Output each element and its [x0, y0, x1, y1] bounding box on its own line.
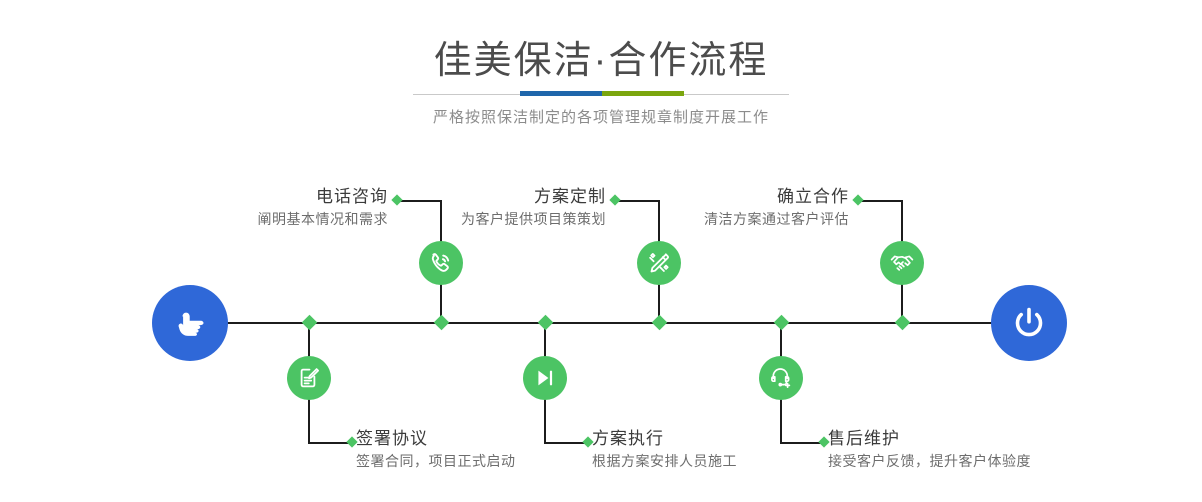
- page-subtitle: 严格按照保洁制定的各项管理规章制度开展工作: [0, 106, 1202, 130]
- timeline-axis: [160, 322, 1045, 324]
- axis-diamond-step-1: [434, 315, 450, 331]
- connector-elbow-step-5: [858, 200, 902, 202]
- step-title-1: 电话咨询: [160, 186, 388, 208]
- connector-elbow-step-6: [780, 442, 824, 444]
- step-label-1: 电话咨询 阐明基本情况和需求: [160, 186, 388, 230]
- power-icon: [1007, 301, 1051, 345]
- axis-diamond-step-3: [652, 315, 668, 331]
- step-desc-2: 签署合同，项目正式启动: [356, 450, 596, 472]
- title-divider-blue-segment: [520, 91, 602, 96]
- step-title-5: 确立合作: [624, 186, 849, 208]
- document-pen-icon: [296, 365, 322, 391]
- axis-diamond-step-4: [538, 315, 554, 331]
- step-desc-1: 阐明基本情况和需求: [160, 208, 388, 230]
- connector-diamond-step-3: [609, 194, 620, 205]
- step-desc-6: 接受客户反馈，提升客户体验度: [828, 450, 1078, 472]
- step-label-4: 方案执行 根据方案安排人员施工: [592, 428, 832, 472]
- pointing-hand-icon: [169, 302, 211, 344]
- step-node-3[interactable]: [637, 241, 681, 285]
- step-desc-3: 为客户提供项目策策划: [380, 208, 606, 230]
- step-title-4: 方案执行: [592, 428, 832, 450]
- step-label-5: 确立合作 清洁方案通过客户评估: [624, 186, 849, 230]
- connector-elbow-step-4: [544, 442, 588, 444]
- title-divider-green-segment: [602, 91, 684, 96]
- step-desc-5: 清洁方案通过客户评估: [624, 208, 849, 230]
- headset-support-icon: [768, 365, 794, 391]
- step-title-3: 方案定制: [380, 186, 606, 208]
- step-node-1[interactable]: [419, 241, 463, 285]
- step-node-2[interactable]: [287, 356, 331, 400]
- axis-diamond-step-2: [302, 315, 318, 331]
- axis-diamond-step-6: [774, 315, 790, 331]
- step-node-5[interactable]: [880, 241, 924, 285]
- handshake-icon: [889, 250, 915, 276]
- step-desc-4: 根据方案安排人员施工: [592, 450, 832, 472]
- step-label-2: 签署协议 签署合同，项目正式启动: [356, 428, 596, 472]
- connector-elbow-step-2: [308, 442, 352, 444]
- timeline-start-marker: [152, 285, 228, 361]
- pencil-ruler-icon: [646, 250, 672, 276]
- process-flow-infographic: 佳美保洁·合作流程 严格按照保洁制定的各项管理规章制度开展工作: [0, 0, 1202, 502]
- page-title: 佳美保洁·合作流程: [0, 38, 1202, 84]
- step-node-6[interactable]: [759, 356, 803, 400]
- play-execute-icon: [532, 365, 558, 391]
- step-label-3: 方案定制 为客户提供项目策策划: [380, 186, 606, 230]
- step-node-4[interactable]: [523, 356, 567, 400]
- phone-call-icon: [428, 250, 454, 276]
- step-title-2: 签署协议: [356, 428, 596, 450]
- axis-diamond-step-5: [895, 315, 911, 331]
- step-title-6: 售后维护: [828, 428, 1078, 450]
- connector-diamond-step-5: [852, 194, 863, 205]
- timeline-end-marker: [991, 285, 1067, 361]
- step-label-6: 售后维护 接受客户反馈，提升客户体验度: [828, 428, 1078, 472]
